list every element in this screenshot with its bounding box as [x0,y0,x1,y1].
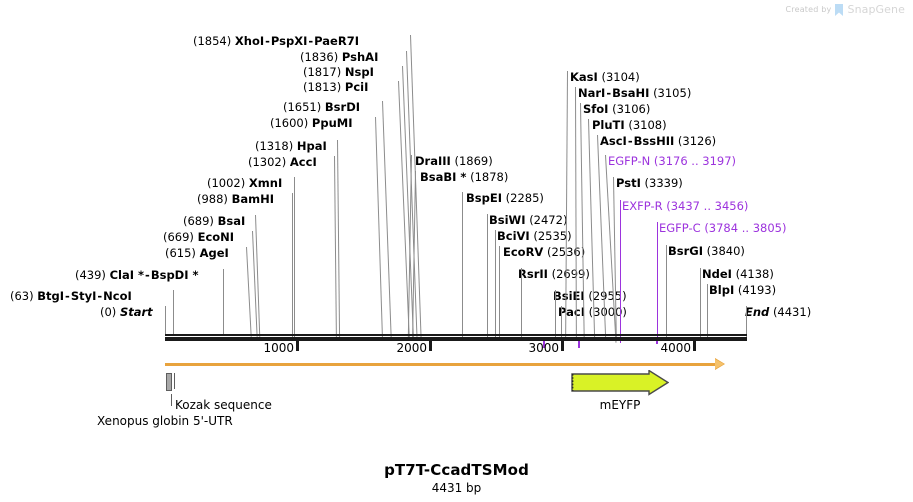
feature-kozak-sequence-mark[interactable] [174,373,175,389]
enzyme-label-bsiwi[interactable]: BsiWI (2472) [489,214,567,227]
primer-label-egfp-c[interactable]: EGFP-C (3784 .. 3805) [659,222,786,235]
feature-meyfp-arrow[interactable] [571,370,669,400]
leader-line-clai [223,269,224,336]
feature-xenopus-globin-utr[interactable] [166,373,172,391]
enzyme-label-ecorv[interactable]: EcoRV (2536) [503,246,585,259]
snapgene-watermark: Created by SnapGene [785,3,905,16]
enzyme-label-pshai[interactable]: (1836) PshAI [300,51,378,64]
sequence-start-label[interactable]: (0) Start [100,306,153,319]
enzyme-label-psti[interactable]: PstI (3339) [616,177,683,190]
plasmid-name: pT7T-CcadTSMod [0,461,913,479]
leader-line-bcivi [495,230,496,337]
leader-line-bspei [462,192,463,337]
plasmid-map-canvas: Created by SnapGene (1854) XhoI-PspXI-Pa… [0,0,913,502]
leader-line-ppumi [375,117,383,338]
ruler-tick-4000 [693,341,696,351]
ruler-tick-2000 [429,341,432,351]
leader-line-bsrgi [666,245,667,337]
orf-span-bar [165,363,717,366]
enzyme-label-hpai[interactable]: (1318) HpaI [255,140,327,153]
leader-line-bsiei [555,290,556,337]
sequence-backbone-thin [165,334,747,336]
enzyme-label-ppumi[interactable]: (1600) PpuMI [270,117,352,130]
enzyme-label-nari-bsahi[interactable]: NarI-BsaHI (3105) [578,87,691,100]
leader-line-bamhi [292,193,293,337]
enzyme-label-blpi[interactable]: BlpI (4193) [709,284,776,297]
enzyme-label-ndei[interactable]: NdeI (4138) [702,268,774,281]
enzyme-label-clai-bspdi[interactable]: (439) ClaI *-BspDI * [75,269,199,282]
leader-line-ndei [700,268,701,337]
enzyme-label-bsrdi[interactable]: (1651) BsrDI [283,101,360,114]
enzyme-label-bspei[interactable]: BspEI (2285) [466,192,544,205]
orf-span-arrowhead [715,359,724,369]
primer-label-egfp-n[interactable]: EGFP-N (3176 .. 3197) [608,155,736,168]
enzyme-label-econi[interactable]: (669) EcoNI [163,231,234,244]
leader-line-agei [246,247,252,337]
enzyme-label-pluti[interactable]: PluTI (3108) [592,119,667,132]
feature-label-kozak-sequence[interactable]: Kozak sequence [175,398,272,412]
enzyme-label-xmni[interactable]: (1002) XmnI [207,177,282,190]
ruler-label-4000: 4000 [633,341,691,355]
leader-line-egfp-c [657,222,658,343]
enzyme-label-draiii[interactable]: DraIII (1869) [415,155,493,168]
ruler-label-1000: 1000 [236,341,294,355]
snapgene-bookmark-icon [835,4,843,16]
enzyme-label-btgi-styi-ncoi[interactable]: (63) BtgI-StyI-NcoI [10,290,132,303]
leader-line-btgi [173,290,174,336]
enzyme-label-asci-bsshii[interactable]: AscI-BssHII (3126) [600,135,716,148]
ruler-tick-1000 [296,341,299,351]
feature-label-xenopus-globin-utr[interactable]: Xenopus globin 5'-UTR [97,414,233,428]
plasmid-size: 4431 bp [0,481,913,495]
leader-line-paci [561,306,562,337]
primer-label-exfp-r[interactable]: EXFP-R (3437 .. 3456) [622,200,748,213]
ruler-tick-3000 [561,341,564,351]
enzyme-label-bsabi[interactable]: BsaBI * (1878) [420,171,508,184]
enzyme-label-acci[interactable]: (1302) AccI [248,156,317,169]
enzyme-label-nspi[interactable]: (1817) NspI [303,66,374,79]
enzyme-label-bsai[interactable]: (689) BsaI [183,215,245,228]
map-title-block: pT7T-CcadTSMod 4431 bp [0,461,913,495]
watermark-brand-label: SnapGene [847,3,905,16]
feature-kozak-leader [171,394,172,406]
leader-line-exfp-r [620,200,621,343]
enzyme-label-rsrii[interactable]: RsrII (2699) [518,268,590,281]
primer-tick-exfp-r [578,340,580,348]
enzyme-label-pcii[interactable]: (1813) PciI [303,81,368,94]
leader-line-bsrdi [382,101,392,338]
leader-line-end [746,306,747,337]
enzyme-label-sfoi[interactable]: SfoI (3106) [583,103,650,116]
leader-line-nari [575,87,577,338]
leader-line-ecorv [499,246,500,337]
watermark-created-by-label: Created by [785,5,831,14]
leader-line-xmni [294,177,295,337]
ruler-label-2000: 2000 [369,341,427,355]
enzyme-label-kasi[interactable]: KasI (3104) [570,71,640,84]
leader-line-hpai [337,140,340,338]
feature-label-meyfp[interactable]: mEYFP [571,398,669,412]
ruler-label-3000: 3000 [501,341,559,355]
leader-line-bsiwi [487,214,488,337]
enzyme-label-xhoi-pspxi-paer7i[interactable]: (1854) XhoI-PspXI-PaeR7I [193,35,359,48]
enzyme-label-bcivi[interactable]: BciVI (2535) [497,230,572,243]
leader-line-rsrii [521,268,522,337]
leader-line-blpi [707,284,708,337]
leader-line-start [165,306,166,336]
enzyme-label-bsrgi[interactable]: BsrGI (3840) [668,245,745,258]
sequence-end-label[interactable]: End (4431) [745,306,811,319]
enzyme-label-bamhi[interactable]: (988) BamHI [197,193,274,206]
enzyme-label-agei[interactable]: (615) AgeI [165,247,229,260]
